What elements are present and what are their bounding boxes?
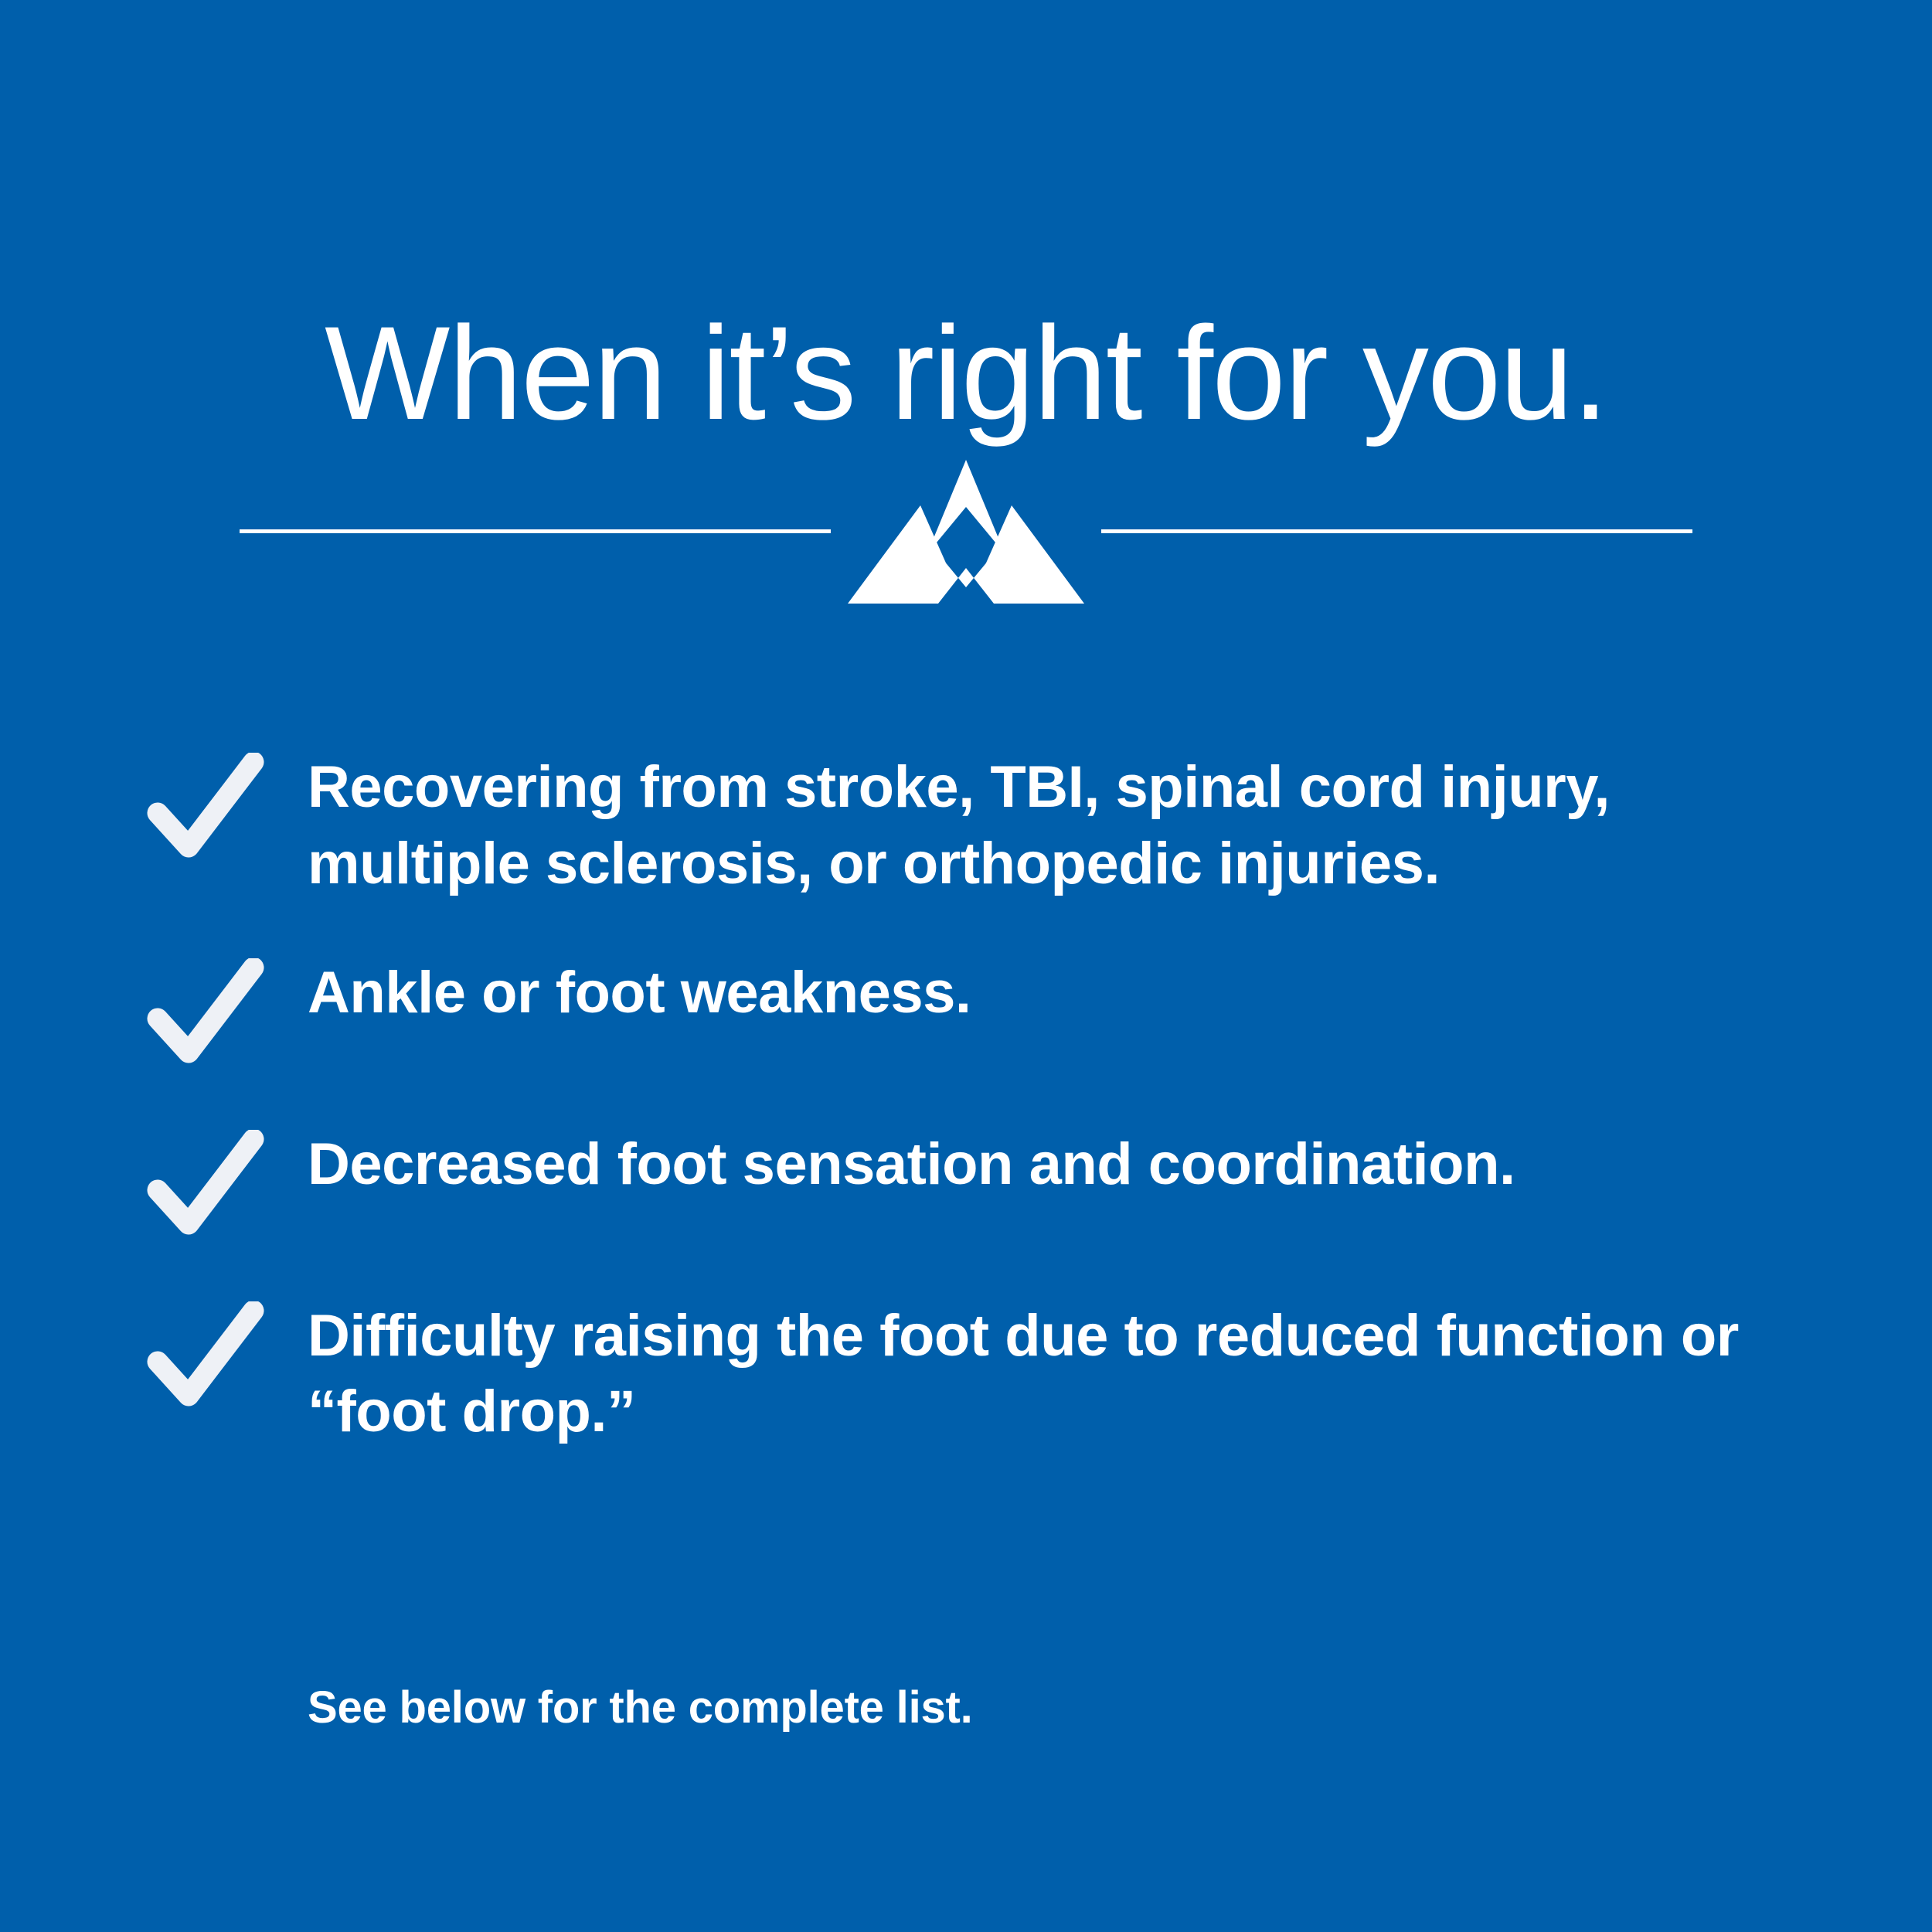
checkmark-icon [147,958,264,1074]
list-item: Decreased foot sensation and coordinatio… [147,1119,1847,1246]
promo-card: When it’s right for you. Recovering from… [0,0,1932,1932]
page-title: When it’s right for you. [240,307,1692,440]
list-item-label: Ankle or foot weakness. [308,947,971,1032]
benefit-checklist: Recovering from stroke, TBI, spinal cord… [147,742,1847,1495]
list-item: Ankle or foot weakness. [147,947,1847,1074]
checkmark-icon [147,1130,264,1246]
list-item: Difficulty raising the foot due to reduc… [147,1291,1847,1451]
list-item-label: Recovering from stroke, TBI, spinal cord… [308,742,1807,903]
list-item-label: Difficulty raising the foot due to reduc… [308,1291,1807,1451]
divider-rule-right [1101,529,1692,533]
see-below-note: See below for the complete list. [308,1679,973,1736]
list-item-label: Decreased foot sensation and coordinatio… [308,1119,1515,1203]
checkmark-icon [147,753,264,869]
mountain-peaks-logo-icon [846,457,1086,604]
checkmark-icon [147,1301,264,1417]
list-item: Recovering from stroke, TBI, spinal cord… [147,742,1847,903]
divider-with-logo [240,457,1692,604]
divider-rule-left [240,529,831,533]
